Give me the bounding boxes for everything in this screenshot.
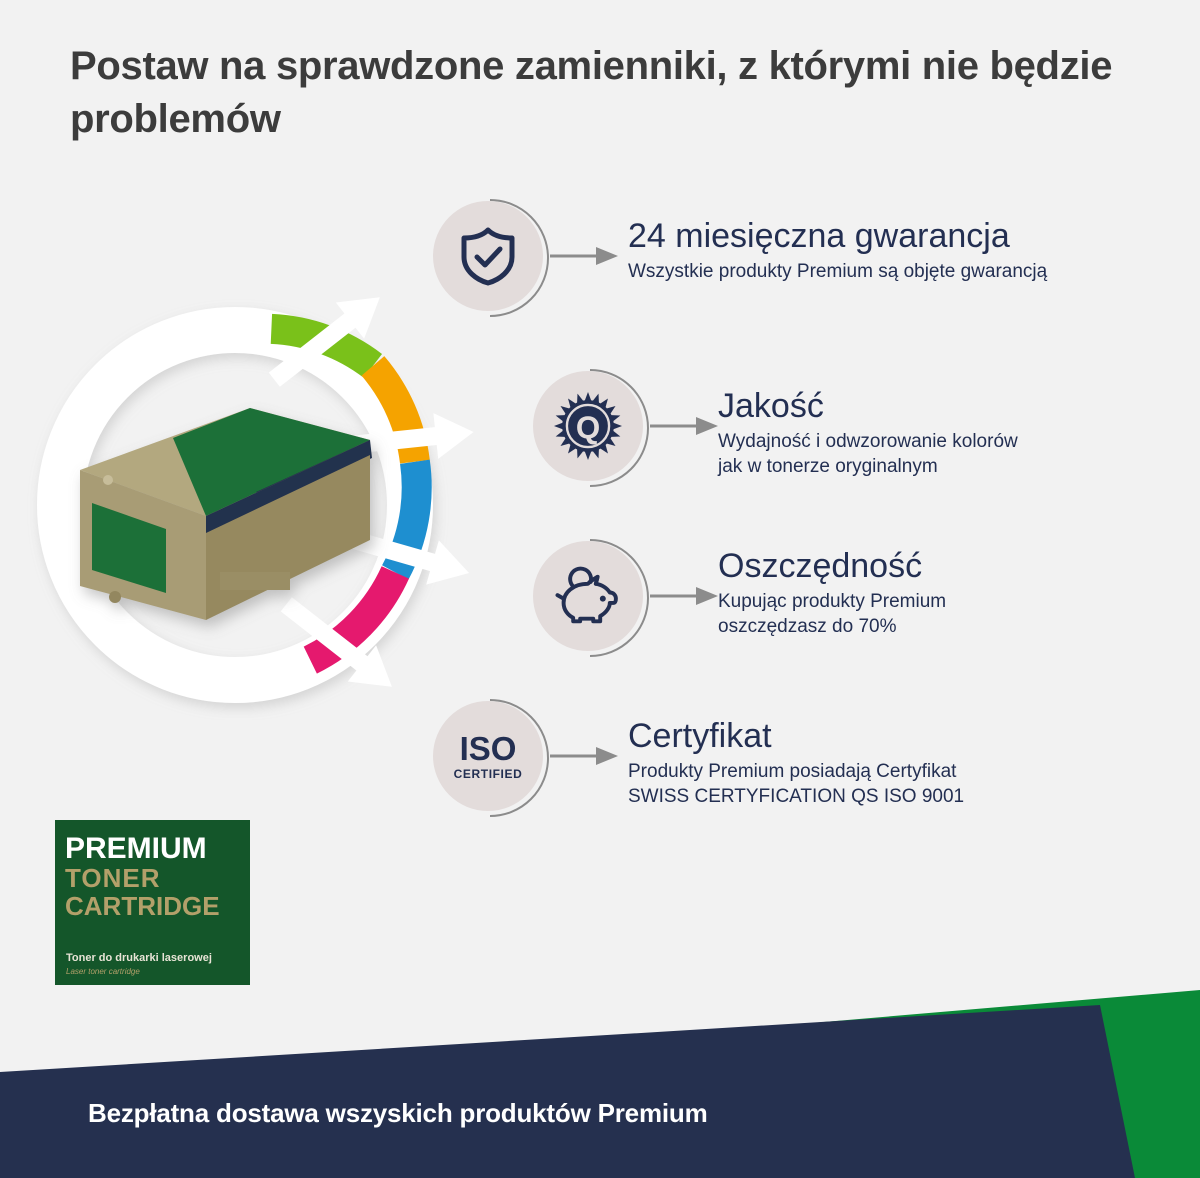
feature-block-savings: Oszczędność Kupując produkty Premium osz… xyxy=(718,548,946,639)
iso-label-primary: ISO xyxy=(454,732,523,765)
shield-check-icon xyxy=(457,225,519,287)
page-title: Postaw na sprawdzone zamienniki, z który… xyxy=(70,40,1130,146)
connector-arrow-3 xyxy=(650,584,720,608)
piggy-bank-icon xyxy=(554,565,622,627)
logo-tagline-pl: Toner do drukarki laserowej xyxy=(66,952,212,964)
feature-icon-iso: ISO CERTIFIED xyxy=(429,697,551,819)
logo-toner-text: TONER xyxy=(65,865,161,891)
feature-desc-line: Wszystkie produkty Premium są objęte gwa… xyxy=(628,260,1047,284)
box-mark-front xyxy=(109,591,121,603)
product-box xyxy=(80,408,372,620)
connector-arrow-4 xyxy=(550,744,620,768)
product-ring-illustration xyxy=(20,290,490,720)
green-diagonal-band xyxy=(0,990,1200,1178)
feature-block-warranty: 24 miesięczna gwarancja Wszystkie produk… xyxy=(628,218,1047,285)
feature-icon-piggy xyxy=(529,537,651,659)
connector-arrow-1 xyxy=(550,244,620,268)
logo-tagline-en: Laser toner cartridge xyxy=(66,967,140,976)
quality-seal-letter: Q xyxy=(576,410,600,445)
feature-title: 24 miesięczna gwarancja xyxy=(628,218,1047,255)
feature-title: Jakość xyxy=(718,388,1018,425)
icon-circle-bg: ISO CERTIFIED xyxy=(433,701,543,811)
feature-desc-line: oszczędzasz do 70% xyxy=(718,615,946,639)
feature-desc-line: Produkty Premium posiadają Certyfikat xyxy=(628,760,964,784)
feature-title: Certyfikat xyxy=(628,718,964,755)
box-barcode xyxy=(220,572,290,590)
icon-circle-bg xyxy=(433,201,543,311)
iso-certified-icon: ISO CERTIFIED xyxy=(454,732,523,780)
box-mark-top xyxy=(103,475,113,485)
infographic-page: Postaw na sprawdzone zamienniki, z który… xyxy=(0,0,1200,1178)
feature-icon-shield xyxy=(429,197,551,319)
logo-cartridge-text: CARTRIDGE xyxy=(65,893,220,919)
icon-circle-bg: Q xyxy=(533,371,643,481)
premium-toner-logo: PREMIUM TONER CARTRIDGE Toner do drukark… xyxy=(55,820,250,985)
feature-title: Oszczędność xyxy=(718,548,946,585)
logo-premium-text: PREMIUM xyxy=(65,834,207,864)
feature-desc-line: SWISS CERTYFICATION QS ISO 9001 xyxy=(628,785,964,809)
feature-desc-line: jak w tonerze oryginalnym xyxy=(718,455,1018,479)
bottom-banner-text: Bezpłatna dostawa wszyskich produktów Pr… xyxy=(88,1098,707,1129)
navy-diagonal-band xyxy=(0,1005,1135,1178)
feature-desc-line: Kupując produkty Premium xyxy=(718,590,946,614)
iso-label-secondary: CERTIFIED xyxy=(454,768,523,780)
connector-arrow-2 xyxy=(650,414,720,438)
feature-desc-line: Wydajność i odwzorowanie kolorów xyxy=(718,430,1018,454)
feature-block-certificate: Certyfikat Produkty Premium posiadają Ce… xyxy=(628,718,964,809)
icon-circle-bg xyxy=(533,541,643,651)
quality-seal-icon: Q xyxy=(554,392,622,460)
feature-icon-quality: Q xyxy=(529,367,651,489)
feature-block-quality: Jakość Wydajność i odwzorowanie kolorów … xyxy=(718,388,1018,479)
